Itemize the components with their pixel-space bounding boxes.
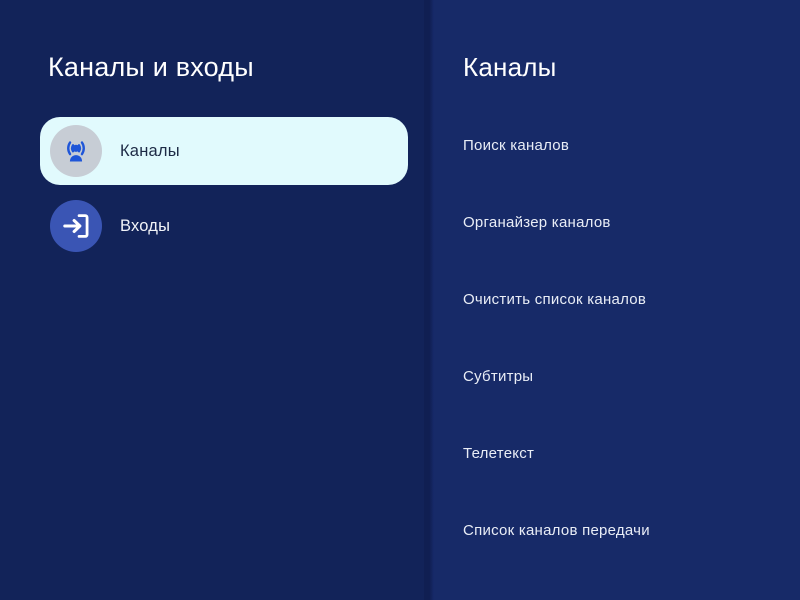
channels-settings-list: Поиск каналов Органайзер каналов Очистит… <box>434 0 800 600</box>
sidebar-item-label: Входы <box>120 217 170 236</box>
list-item-broadcast-channel-list[interactable]: Список каналов передачи <box>463 518 650 542</box>
sidebar-item-label: Каналы <box>120 142 180 161</box>
tv-settings-screen: Каналы и входы Кана <box>0 0 800 600</box>
sidebar-item-inputs[interactable]: Входы <box>40 192 408 260</box>
list-item-subtitles[interactable]: Субтитры <box>463 364 533 388</box>
list-item-channel-organizer[interactable]: Органайзер каналов <box>463 210 611 234</box>
list-item-teletext[interactable]: Телетекст <box>463 441 534 465</box>
sidebar-item-channels[interactable]: Каналы <box>40 117 408 185</box>
right-panel: Каналы Поиск каналов Органайзер каналов … <box>434 0 800 600</box>
left-panel: Каналы и входы Кана <box>0 0 432 600</box>
panel-divider <box>424 0 434 600</box>
broadcast-person-icon <box>50 125 102 177</box>
input-arrow-box-icon <box>50 200 102 252</box>
list-item-clear-channel-list[interactable]: Очистить список каналов <box>463 287 646 311</box>
list-item-channel-scan[interactable]: Поиск каналов <box>463 133 569 157</box>
page-title: Каналы и входы <box>48 52 254 83</box>
